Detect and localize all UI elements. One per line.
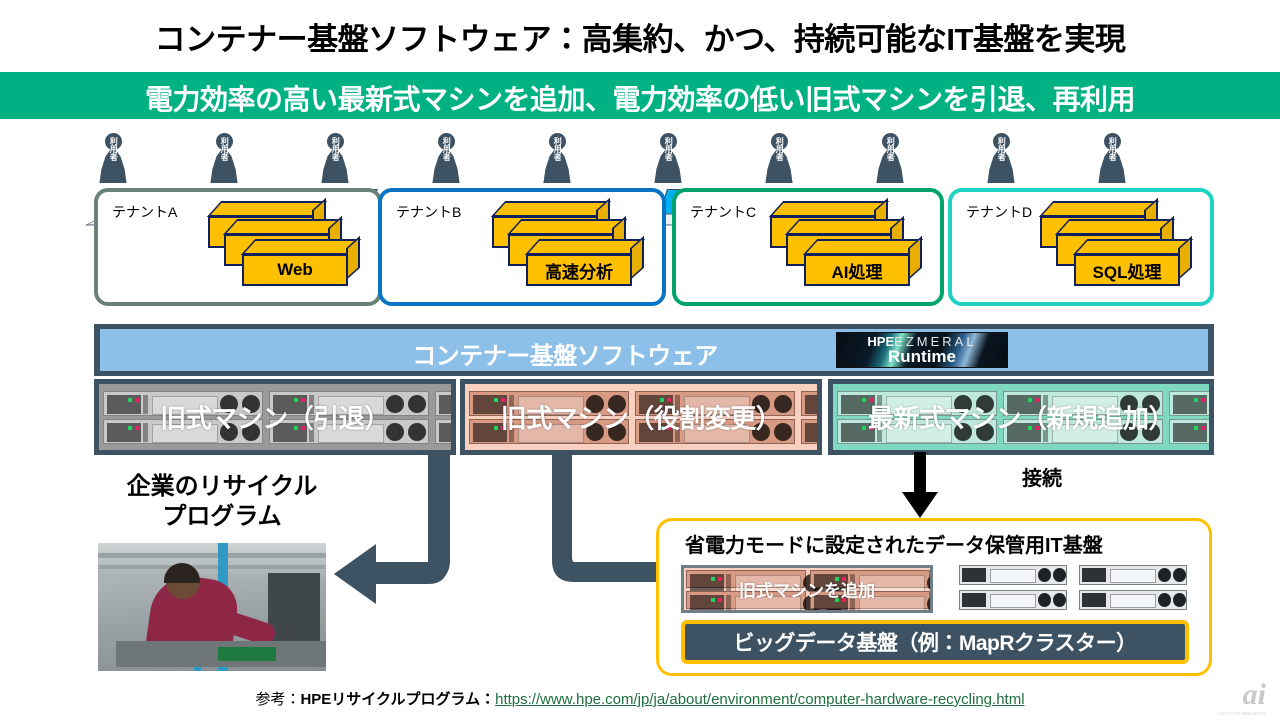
tenant-label: テナントC (690, 202, 756, 222)
watermark-subtext: ASCII INFORMATION (1218, 712, 1266, 716)
workload-label: 高速分析 (526, 254, 632, 286)
watermark-text: ai (1243, 678, 1266, 711)
bigdata-platform-label: ビッグデータ基盤（例：MapRクラスター） (685, 627, 1185, 657)
user-icon: 利用者 (429, 133, 463, 183)
user-icon: 利用者 (96, 133, 130, 183)
container-cube-stack: AI処理 (752, 196, 932, 296)
user-icon: 利用者 (207, 133, 241, 183)
workload-label: Web (242, 254, 348, 286)
footer-prefix: 参考： (255, 691, 300, 708)
runtime-edition-text: Runtime (837, 347, 1007, 367)
hpe-ezmeral-runtime-logo: HPEEZMERAL Runtime (836, 332, 1008, 368)
arrow-connect-down (900, 452, 940, 520)
machine-bar-label: 旧式マシン（引退） (99, 399, 451, 436)
user-icon: 利用者 (651, 133, 685, 183)
user-icon: 利用者 (873, 133, 907, 183)
user-icon: 利用者 (762, 133, 796, 183)
server-unit (959, 590, 1067, 610)
tenant-box-c[interactable]: テナントC AI処理 (672, 188, 944, 306)
user-icon: 利用者 (984, 133, 1018, 183)
user-icon-label: 利用者 (96, 137, 130, 177)
container-platform-label: コンテナー基盤ソフトウェア (100, 336, 1208, 371)
machine-bar-label: 最新式マシン（新規追加） (833, 399, 1209, 436)
recycle-program-title: 企業のリサイクル プログラム (72, 472, 372, 532)
tenant-box-b[interactable]: テナントB 高速分析 (378, 188, 666, 306)
machine-bar-label: 旧式マシン（役割変更） (465, 399, 817, 436)
highlight-banner-text: 電力効率の高い最新式マシンを追加、電力効率の低い旧式マシンを引退、再利用 (0, 78, 1280, 118)
user-icon: 利用者 (318, 133, 352, 183)
recycling-facility-photo (98, 543, 326, 671)
storage-servers-graphic (959, 565, 1191, 613)
user-icon-label: 利用者 (540, 137, 574, 177)
user-icon-label: 利用者 (873, 137, 907, 177)
recycling-program-link[interactable]: https://www.hpe.com/jp/ja/about/environm… (495, 691, 1024, 708)
storage-panel-title: 省電力モードに設定されたデータ保管用IT基盤 (685, 529, 1103, 558)
user-icon: 利用者 (1095, 133, 1129, 183)
recycle-title-line1: 企業のリサイクル (72, 472, 372, 502)
added-old-machines-label: 旧式マシンを追加 (684, 577, 930, 602)
tenant-label: テナントB (396, 202, 461, 222)
machine-bar-new[interactable]: 最新式マシン（新規追加） (828, 379, 1214, 455)
container-cube-stack: SQL処理 (1022, 196, 1202, 296)
user-icon-label: 利用者 (651, 137, 685, 177)
added-old-machines-block: 旧式マシンを追加 (681, 565, 933, 613)
user-icon-label: 利用者 (429, 137, 463, 177)
user-icon-label: 利用者 (1095, 137, 1129, 177)
container-cube-stack: 高速分析 (474, 196, 654, 296)
user-icon: 利用者 (540, 133, 574, 183)
page-title: コンテナー基盤ソフトウェア：高集約、かつ、持続可能なIT基盤を実現 (0, 14, 1280, 59)
user-icon-label: 利用者 (984, 137, 1018, 177)
tenant-label: テナントA (112, 202, 177, 222)
tenant-box-a[interactable]: テナントA Web (94, 188, 382, 306)
user-icon-label: 利用者 (207, 137, 241, 177)
ascii-watermark: ai ASCII INFORMATION (1243, 680, 1266, 710)
recycle-title-line2: プログラム (72, 502, 372, 532)
server-unit (1079, 565, 1187, 585)
footer-reference: 参考：HPEリサイクルプログラム：https://www.hpe.com/jp/… (0, 688, 1280, 709)
footer-label: HPEリサイクルプログラム： (300, 691, 495, 708)
user-icon-label: 利用者 (762, 137, 796, 177)
machine-bar-repurposed[interactable]: 旧式マシン（役割変更） (460, 379, 822, 455)
bigdata-platform-bar[interactable]: ビッグデータ基盤（例：MapRクラスター） (681, 620, 1189, 664)
container-platform-bar[interactable]: コンテナー基盤ソフトウェア HPEEZMERAL Runtime (94, 324, 1214, 376)
connect-label: 接続 (1022, 462, 1062, 491)
tenant-box-d[interactable]: テナントD SQL処理 (948, 188, 1214, 306)
user-icon-label: 利用者 (318, 137, 352, 177)
workload-label: SQL処理 (1074, 254, 1180, 286)
server-unit (959, 565, 1067, 585)
low-power-storage-panel[interactable]: 省電力モードに設定されたデータ保管用IT基盤 旧式マシンを追加 ビッグデータ基盤… (656, 518, 1212, 676)
server-unit (1079, 590, 1187, 610)
container-cube-stack: Web (190, 196, 370, 296)
workload-label: AI処理 (804, 254, 910, 286)
machine-bar-retired[interactable]: 旧式マシン（引退） (94, 379, 456, 455)
slide-canvas: コンテナー基盤ソフトウェア：高集約、かつ、持続可能なIT基盤を実現 電力効率の高… (0, 0, 1280, 720)
